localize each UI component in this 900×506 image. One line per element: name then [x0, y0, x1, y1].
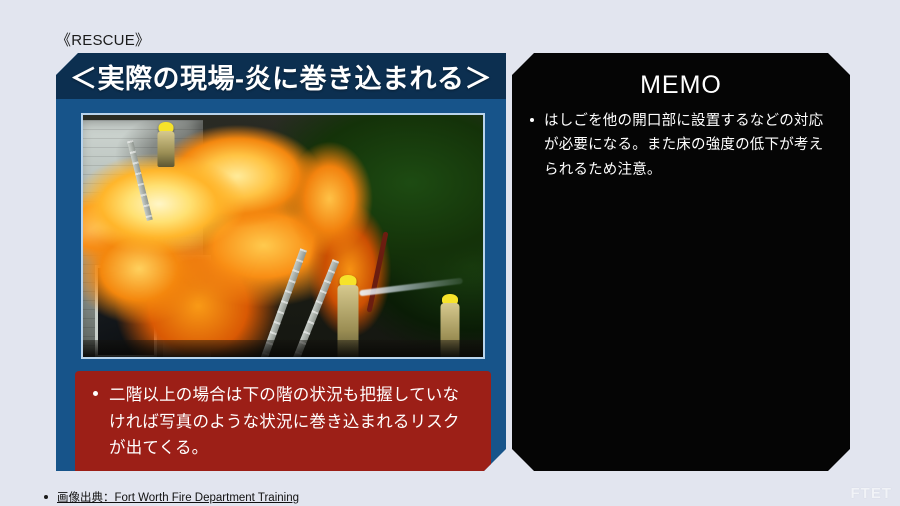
left-panel-title: ＜実際の現場-炎に巻き込まれる＞ — [56, 53, 506, 99]
bullet-dot-icon — [530, 118, 534, 122]
photo-ground-shadow — [83, 340, 483, 357]
memo-body: はしごを他の開口部に設置するなどの対応が必要になる。また床の強度の低下が考えられ… — [512, 109, 850, 182]
watermark: FTET — [851, 485, 893, 502]
footer-source-credit: 画像出典：Fort Worth Fire Department Training — [44, 489, 299, 505]
photo-firefighter-roof — [151, 122, 181, 168]
left-content-panel: ＜実際の現場-炎に巻き込まれる＞ — [56, 53, 506, 471]
memo-text: はしごを他の開口部に設置するなどの対応が必要になる。また床の強度の低下が考えられ… — [544, 109, 832, 182]
caption-bullet-item: 二階以上の場合は下の階の状況も把握していなければ写真のような状況に巻き込まれるリ… — [89, 382, 475, 462]
photo-turnout-gear — [158, 131, 175, 167]
photo-canvas — [83, 115, 483, 357]
memo-title: MEMO — [512, 71, 850, 100]
footer-source-text[interactable]: 画像出典：Fort Worth Fire Department Training — [57, 489, 299, 505]
fire-scene-photo — [81, 113, 485, 359]
caption-box: 二階以上の場合は下の階の状況も把握していなければ写真のような状況に巻き込まれるリ… — [75, 371, 491, 474]
bullet-dot-icon — [44, 495, 48, 499]
bullet-dot-icon — [93, 391, 98, 396]
slide-label: 《RESCUE》 — [56, 29, 150, 50]
caption-text: 二階以上の場合は下の階の状況も把握していなければ写真のような状況に巻き込まれるリ… — [109, 382, 475, 462]
memo-bullet-item: はしごを他の開口部に設置するなどの対応が必要になる。また床の強度の低下が考えられ… — [522, 109, 832, 182]
memo-panel: MEMO はしごを他の開口部に設置するなどの対応が必要になる。また床の強度の低下… — [512, 53, 850, 471]
